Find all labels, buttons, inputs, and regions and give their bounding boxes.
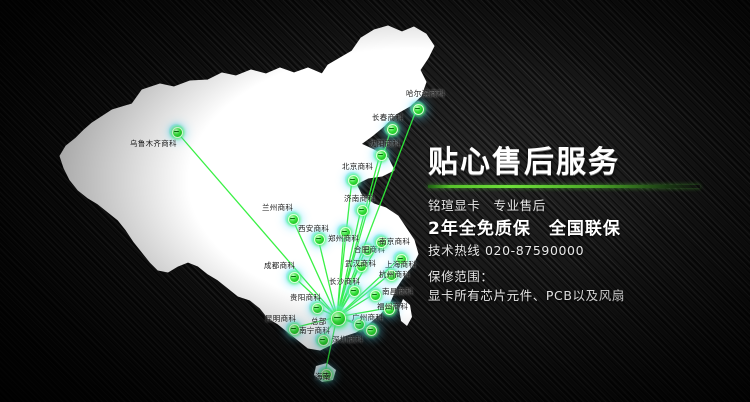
title-divider <box>428 185 700 188</box>
city-label-海南: 海南 <box>315 373 331 381</box>
city-label-兰州商科: 兰州商科 <box>262 204 293 212</box>
panel-title: 贴心售后服务 <box>428 146 728 180</box>
city-marker-西安商科[interactable] <box>314 234 325 245</box>
city-label-上海商科: 上海商科 <box>385 261 416 269</box>
city-marker-乌鲁木齐商科[interactable] <box>172 127 183 138</box>
city-marker-沈阳商科[interactable] <box>376 150 387 161</box>
city-marker-兰州商科[interactable] <box>288 214 299 225</box>
city-label-杭州商科: 杭州商科 <box>379 271 410 279</box>
city-label-深圳商科: 深圳商科 <box>332 336 363 344</box>
city-label-乌鲁木齐商科: 乌鲁木齐商科 <box>130 140 177 148</box>
city-marker-济南商科[interactable] <box>357 205 368 216</box>
warranty-line: 2年全免质保 全国联保 <box>428 218 728 240</box>
city-label-昆明商科: 昆明商科 <box>265 315 296 323</box>
city-label-长春商科: 长春商科 <box>372 114 403 122</box>
city-marker-昆明商科[interactable] <box>289 324 300 335</box>
city-label-贵阳商科: 贵阳商科 <box>290 294 321 302</box>
headquarters-marker[interactable] <box>331 311 346 326</box>
city-marker-哈尔滨商科[interactable] <box>413 104 424 115</box>
city-marker-南昌商科[interactable] <box>370 290 381 301</box>
city-marker-长沙商科[interactable] <box>349 286 360 297</box>
map-svg <box>22 18 442 393</box>
city-label-北京商科: 北京商科 <box>342 163 373 171</box>
city-marker-南宁商科[interactable] <box>318 335 329 346</box>
city-label-武汉商科: 武汉商科 <box>345 260 376 268</box>
city-marker-深圳商科[interactable] <box>366 325 377 336</box>
china-distribution-map: 乌鲁木齐商科哈尔滨商科长春商科沈阳商科北京商科济南商科兰州商科西安商科郑州商科成… <box>22 18 442 393</box>
warranty-scope-label: 保修范围： <box>428 268 728 285</box>
city-label-成都商科: 成都商科 <box>264 262 295 270</box>
city-label-西安商科: 西安商科 <box>298 225 329 233</box>
city-label-南宁商科: 南宁商科 <box>299 327 330 335</box>
city-label-哈尔滨商科: 哈尔滨商科 <box>406 90 445 98</box>
promo-banner: 乌鲁木齐商科哈尔滨商科长春商科沈阳商科北京商科济南商科兰州商科西安商科郑州商科成… <box>0 0 750 402</box>
city-label-沈阳商科: 沈阳商科 <box>369 140 400 148</box>
city-label-济南商科: 济南商科 <box>344 195 375 203</box>
warranty-scope-value: 显卡所有芯片元件、PCB以及风扇 <box>428 287 728 304</box>
city-label-广州商科: 广州商科 <box>352 314 383 322</box>
city-label-福州商科: 福州商科 <box>377 303 408 311</box>
city-label-郑州商科: 郑州商科 <box>328 235 359 243</box>
hotline-line: 技术热线 020-87590000 <box>428 242 728 259</box>
city-marker-长春商科[interactable] <box>387 124 398 135</box>
brand-line: 铭瑄显卡 专业售后 <box>428 197 728 214</box>
service-info-panel: 贴心售后服务 铭瑄显卡 专业售后 2年全免质保 全国联保 技术热线 020-87… <box>428 146 728 304</box>
city-marker-成都商科[interactable] <box>289 272 300 283</box>
city-label-南昌商科: 南昌商科 <box>382 288 413 296</box>
headquarters-label: 总部 <box>311 318 327 326</box>
city-marker-北京商科[interactable] <box>348 175 359 186</box>
city-label-长沙商科: 长沙商科 <box>329 278 360 286</box>
city-label-南京商科: 南京商科 <box>379 238 410 246</box>
city-marker-贵阳商科[interactable] <box>312 303 323 314</box>
